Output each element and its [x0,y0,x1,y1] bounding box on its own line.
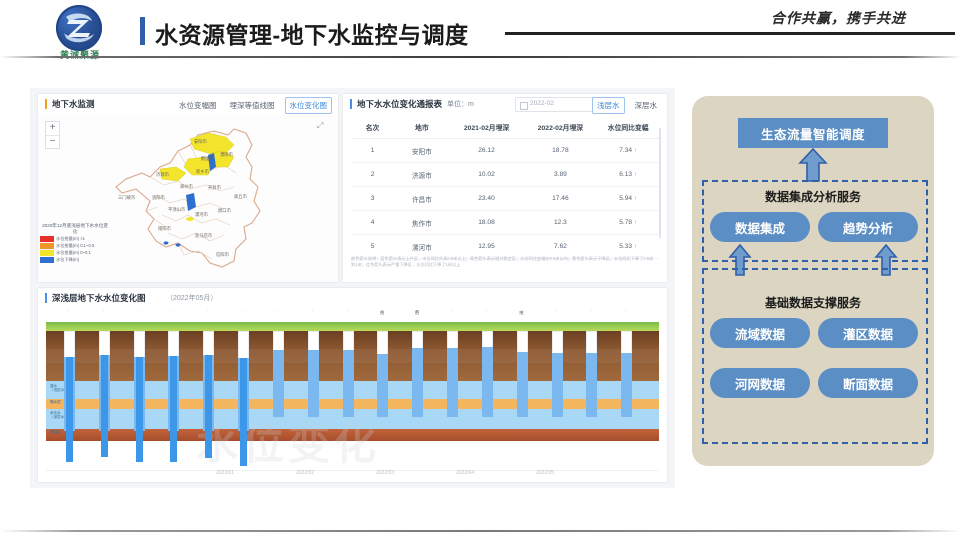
map-city-label: 郑州市 [180,184,193,190]
legend-label: 水位抬量(m) 0.1~0.5 [56,244,94,248]
map-city-label: 周口市 [218,208,231,214]
aquifer-tab-group: 浅层水 深层水 [592,97,660,114]
node-data-integration[interactable]: 数据集成 [710,212,810,242]
tab-depth-contour[interactable]: 埋深等值线图 [227,98,278,113]
col-city: 地市 [394,116,449,139]
legend-swatch-icon [40,250,54,256]
chart-x-axis: 2022/012022/022022/032022/042022/05 [46,470,659,480]
legend-item: 水位抬量(m) >1 [40,236,110,242]
report-unit-label: 单位：m [447,99,474,109]
x-axis-tick-label: 2022/01 [216,470,234,476]
shallow-water-fill [586,353,597,417]
well-city-label: 平顶山市 [519,310,524,314]
logo-wordmark: 黄诚聚源 [42,48,118,61]
cell-city: 焦作市 [394,211,449,235]
x-axis-tick-label: 2022/03 [376,470,394,476]
map-city-label: 驻马店市 [195,233,212,239]
layer-label-aquitard: 隔水层 [50,400,61,404]
arrow-up-icon [798,148,828,182]
shallow-water-fill [447,348,458,417]
node-basin-data[interactable]: 流域数据 [710,318,810,348]
legend-swatch-icon [40,243,54,249]
report-footnote: 颜色箭头说明：蓝色箭头表示上升区，水位同比升高0.5米以上；青色箭头表示相对稳定… [351,256,657,268]
cell-depth-2021: 26.12 [450,139,524,163]
henan-map-canvas[interactable]: + − ⤢ [38,115,338,282]
node-trend-analysis[interactable]: 趋势分析 [818,212,918,242]
cell-depth-2022: 7.62 [523,235,597,259]
cell-depth-2022: 18.78 [523,139,597,163]
node-irrigation-data[interactable]: 灌区数据 [818,318,918,348]
page-title: 水资源管理-地下水监控与调度 [155,16,469,50]
deep-water-fill [101,355,108,458]
chart-watermark: 水位变化 [196,411,380,472]
table-scrollbar[interactable] [659,128,661,238]
col-depth-2022: 2022-02月埋深 [523,116,597,139]
calendar-icon [520,102,528,110]
map-city-label: 开封市 [208,185,221,191]
aquifer-cross-section[interactable]: 水位变化 潜水（浅层水） 隔水层 承压水（深层水） 基岩层 郑州市漯河市濮阳市开… [46,310,659,474]
monitor-card-title: 地下水监测 [52,98,95,110]
aquifer-section-chart-card: 深浅层地下水水位变化图 （2022年05月） 水位变化 潜水（浅层水） 隔水层 … [38,288,667,482]
deep-water-fill [240,358,247,466]
slide-header: 黄诚聚源 水资源管理-地下水监控与调度 合作共赢，携手共进 [0,0,961,62]
map-city-label: 三门峡市 [118,195,135,201]
x-axis-tick-label: 2022/04 [456,470,474,476]
cell-depth-2021: 18.08 [450,211,524,235]
well-city-label: 三门峡市 [379,310,384,314]
tab-deep-water[interactable]: 深层水 [632,98,661,113]
slogan-text: 合作共赢，携手共进 [771,8,906,28]
group-title-base-data: 基础数据支撑服务 [702,294,924,311]
footer-divider [0,530,961,532]
cell-yoy-change: 6.13 ↑ [597,163,659,187]
col-depth-2021: 2021-02月埋深 [450,116,524,139]
shallow-water-fill [412,348,423,417]
group-title-data-integration: 数据集成分析服务 [702,188,924,205]
card-accent-tick [45,293,47,303]
map-city-label: 濮阳市 [220,152,233,158]
cell-yoy-change: 5.33 ↑ [597,235,659,259]
month-picker-input[interactable]: 2022-02 [515,97,595,112]
groundwater-monitor-card: 地下水监测 水位变幅图 埋深等值线图 水位变化图 + − ⤢ [38,94,338,282]
cell-yoy-change: 5.78 ↑ [597,211,659,235]
shallow-water-fill [517,352,528,417]
map-city-label: 南阳市 [158,226,171,232]
cell-city: 安阳市 [394,139,449,163]
tab-water-level-change[interactable]: 水位变化图 [285,97,333,114]
trend-up-icon: ↑ [634,171,637,178]
legend-title: 2020年12月底浅层地下水水位变化 [40,223,110,234]
map-city-label: 鹤壁市 [201,156,214,162]
monitor-tab-group: 水位变幅图 埋深等值线图 水位变化图 [176,97,332,114]
legend-swatch-icon [40,257,54,263]
map-city-label: 商丘市 [234,194,247,200]
slide-root: 黄诚聚源 水资源管理-地下水监控与调度 合作共赢，携手共进 地下水监测 水位变幅… [0,0,961,540]
trend-up-icon: ↑ [634,243,637,250]
application-screenshot: 地下水监测 水位变幅图 埋深等值线图 水位变化图 + − ⤢ [30,88,675,488]
title-underline [505,32,955,35]
report-card-title: 地下水水位变化通报表 [357,98,442,110]
map-city-label: 信阳市 [216,252,229,258]
map-legend: 2020年12月底浅层地下水水位变化 水位抬量(m) >1 水位抬量(m) 0.… [40,223,110,264]
deep-water-fill [66,357,73,462]
cell-city: 济源市 [394,163,449,187]
map-city-label: 济源市 [156,172,169,178]
cell-depth-2021: 12.95 [450,235,524,259]
node-section-data[interactable]: 断面数据 [818,368,918,398]
cell-yoy-change: 7.34 ↑ [597,139,659,163]
cell-depth-2021: 23.40 [450,187,524,211]
deep-water-fill [136,357,143,462]
month-picker-value: 2022-02 [530,100,554,107]
card-accent-tick [45,99,47,109]
header-divider [0,56,961,58]
map-city-label: 新乡市 [196,169,209,175]
table-row[interactable]: 1安阳市26.1218.787.34 ↑ [351,139,659,163]
shallow-water-fill [621,353,632,417]
tab-shallow-water[interactable]: 浅层水 [592,97,625,114]
title-accent-bar [140,17,145,45]
cell-rank: 1 [351,139,394,163]
cell-city: 漯河市 [394,235,449,259]
x-axis-tick-label: 2022/02 [296,470,314,476]
legend-swatch-icon [40,236,54,242]
logo-z-mark-icon [56,5,102,51]
node-eco-flow-dispatch[interactable]: 生态流量智能调度 [738,118,888,148]
ground-surface-layer [46,322,659,331]
cell-rank: 5 [351,235,394,259]
cell-rank: 4 [351,211,394,235]
col-rank: 名次 [351,116,394,139]
tab-water-level-amplitude[interactable]: 水位变幅图 [176,98,220,113]
cell-rank: 2 [351,163,394,187]
shallow-water-fill [377,354,388,417]
chart-card-header: 深浅层地下水水位变化图 （2022年05月） [38,288,667,309]
chart-card-subtitle: （2022年05月） [166,293,217,303]
cell-depth-2022: 17.46 [523,187,597,211]
report-card-header: 地下水水位变化通报表 单位：m 2022-02 浅层水 深层水 [343,94,667,115]
trend-up-icon: ↑ [634,147,637,154]
company-logo: 黄诚聚源 [42,4,118,60]
cell-rank: 3 [351,187,394,211]
layer-label-bedrock: 基岩层 [50,430,61,434]
legend-item: 水位抬量(m) 0~0.1 [40,250,110,256]
legend-item: 水位抬量(m) 0.1~0.5 [40,243,110,249]
table-row[interactable]: 4焦作市18.0812.35.78 ↑ [351,211,659,235]
trend-up-icon: ↑ [634,195,637,202]
shallow-water-fill [273,350,284,417]
table-row[interactable]: 3许昌市23.4017.465.94 ↑ [351,187,659,211]
table-row[interactable]: 2济源市10.023.896.13 ↑ [351,163,659,187]
map-city-label: 洛阳市 [152,195,165,201]
well-city-label: 驻马店市 [414,310,419,314]
deep-water-fill [205,355,212,459]
table-row[interactable]: 5漯河市12.957.625.33 ↑ [351,235,659,259]
shallow-water-fill [343,350,354,417]
shallow-water-fill [308,350,319,417]
monitor-card-header: 地下水监测 水位变幅图 埋深等值线图 水位变化图 [38,94,338,115]
cell-depth-2022: 3.89 [523,163,597,187]
trend-up-icon: ↑ [634,219,637,226]
x-axis-tick-label: 2022/05 [536,470,554,476]
legend-label: 水位抬量(m) >1 [56,237,85,241]
legend-label: 水位抬量(m) 0~0.1 [56,251,91,255]
legend-item: 水位下降(m) [40,257,110,263]
chart-card-title: 深浅层地下水水位变化图 [52,292,146,304]
node-river-network-data[interactable]: 河网数据 [710,368,810,398]
table-header-row: 名次 地市 2021-02月埋深 2022-02月埋深 水位同比变幅 [351,116,659,139]
map-city-label: 漯河市 [195,212,208,218]
cell-yoy-change: 5.94 ↑ [597,187,659,211]
cell-city: 许昌市 [394,187,449,211]
service-architecture-diagram: 生态流量智能调度 数据集成分析服务 数据集成 趋势分析 基础数据支撑服务 流域数… [692,96,934,466]
shallow-water-fill [482,347,493,417]
map-city-label: 安阳市 [194,139,207,145]
shallow-water-fill [552,353,563,417]
map-city-label: 平顶山市 [168,207,185,213]
cell-depth-2021: 10.02 [450,163,524,187]
card-accent-tick [350,99,352,109]
deep-water-fill [170,356,177,463]
water-level-report-card: 地下水水位变化通报表 单位：m 2022-02 浅层水 深层水 名次 地市 [343,94,667,282]
cell-depth-2022: 12.3 [523,211,597,235]
col-yoy-change: 水位同比变幅 [597,116,659,139]
report-table: 名次 地市 2021-02月埋深 2022-02月埋深 水位同比变幅 1安阳市2… [351,116,659,259]
legend-label: 水位下降(m) [56,258,79,262]
